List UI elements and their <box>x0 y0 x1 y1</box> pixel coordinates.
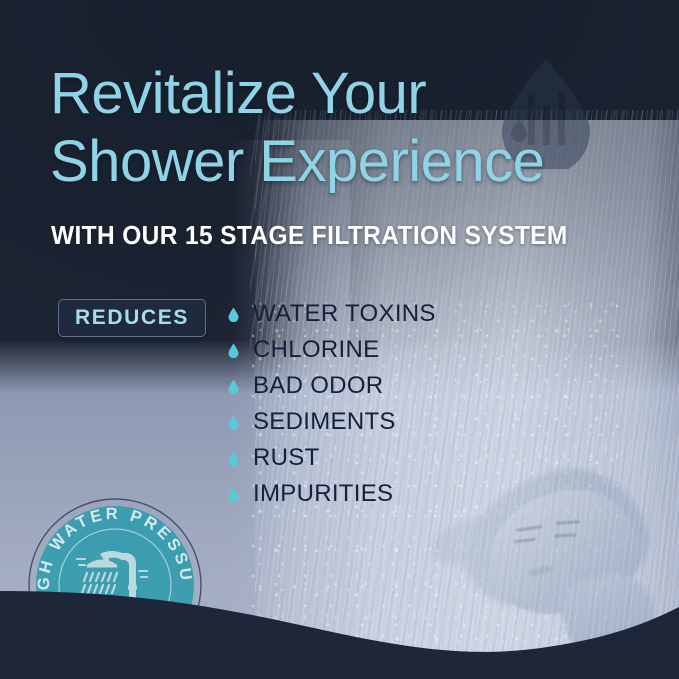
reduces-list: WATER TOXINS CHLORINE BAD ODOR SEDIMENTS <box>228 296 436 512</box>
page-title: Revitalize Your Shower Experience <box>50 60 630 196</box>
droplet-bullet-icon <box>228 415 239 430</box>
list-item-label: CHLORINE <box>253 336 379 364</box>
bottom-wave-decoration <box>0 569 679 679</box>
list-item: CHLORINE <box>228 332 436 368</box>
list-item-label: BAD ODOR <box>253 372 383 400</box>
reduces-badge-label: REDUCES <box>75 306 189 330</box>
list-item: RUST <box>228 440 436 476</box>
reduces-badge: REDUCES <box>58 299 206 337</box>
headline-line-1: Revitalize Your <box>50 60 630 128</box>
list-item-label: RUST <box>253 444 320 472</box>
page-subtitle: WITH OUR 15 STAGE FILTRATION SYSTEM <box>51 222 627 251</box>
droplet-bullet-icon <box>228 307 239 322</box>
list-item: WATER TOXINS <box>228 296 436 332</box>
droplet-bullet-icon <box>228 487 239 502</box>
list-item: SEDIMENTS <box>228 404 436 440</box>
list-item: BAD ODOR <box>228 368 436 404</box>
list-item-label: IMPURITIES <box>253 480 393 508</box>
headline-line-2: Shower Experience <box>50 128 630 196</box>
list-item-label: SEDIMENTS <box>253 408 396 436</box>
droplet-bullet-icon <box>228 451 239 466</box>
list-item: IMPURITIES <box>228 476 436 512</box>
droplet-bullet-icon <box>228 343 239 358</box>
list-item-label: WATER TOXINS <box>253 300 436 328</box>
product-poster: Revitalize Your Shower Experience WITH O… <box>0 0 679 679</box>
droplet-bullet-icon <box>228 379 239 394</box>
